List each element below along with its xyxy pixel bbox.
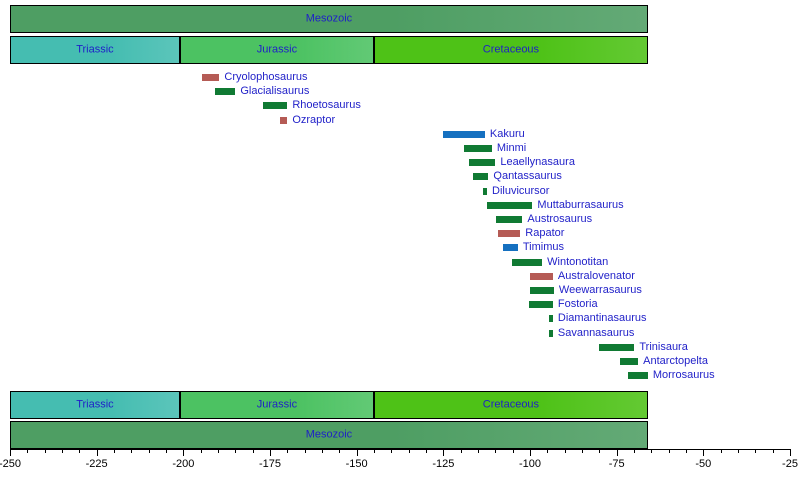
axis-tick-minor	[201, 449, 202, 453]
band-label: Mesozoic	[11, 430, 647, 441]
taxon-label: Rhoetosaurus	[292, 98, 361, 112]
band-cretaceous: Cretaceous	[374, 391, 648, 419]
taxon-label: Antarctopelta	[643, 354, 708, 368]
axis-tick-minor	[218, 449, 219, 453]
taxon-row[interactable]: Austrosaurus	[0, 212, 800, 226]
axis-tick-label: -75	[609, 458, 625, 470]
taxon-label: Ozraptor	[292, 113, 335, 127]
taxon-range-bar[interactable]	[280, 117, 287, 124]
axis-tick-minor	[131, 449, 132, 453]
axis-tick-label: -225	[86, 458, 108, 470]
taxon-range-bar[interactable]	[530, 273, 553, 280]
taxon-range-bar[interactable]	[549, 330, 553, 337]
axis-tick-label: -100	[519, 458, 541, 470]
taxon-range-bar[interactable]	[512, 259, 542, 266]
axis-tick-minor	[565, 449, 566, 453]
band-label: Triassic	[11, 45, 179, 56]
taxon-range-bar[interactable]	[599, 344, 634, 351]
band-jurassic: Jurassic	[180, 391, 374, 419]
taxon-row[interactable]: Australovenator	[0, 269, 800, 283]
taxon-label: Minmi	[497, 141, 526, 155]
taxon-row[interactable]: Morrosaurus	[0, 368, 800, 382]
taxon-label: Austrosaurus	[527, 212, 592, 226]
taxon-range-bar[interactable]	[263, 102, 287, 109]
taxon-row[interactable]: Rapator	[0, 226, 800, 240]
taxon-row[interactable]: Cryolophosaurus	[0, 70, 800, 84]
taxon-label: Fostoria	[558, 297, 598, 311]
axis-tick-minor	[513, 449, 514, 453]
axis-tick-minor	[322, 449, 323, 453]
taxon-label: Muttaburrasaurus	[537, 198, 623, 212]
axis-tick-major	[357, 449, 358, 456]
band-triassic: Triassic	[10, 36, 180, 64]
band-mesozoic: Mesozoic	[10, 5, 648, 33]
axis-tick-major	[703, 449, 704, 456]
axis-tick-label: -125	[432, 458, 454, 470]
axis-tick-major	[97, 449, 98, 456]
axis-tick-minor	[599, 449, 600, 453]
taxon-range-bar[interactable]	[202, 74, 219, 81]
taxon-label: Cryolophosaurus	[224, 70, 307, 84]
taxon-row[interactable]: Wintonotitan	[0, 255, 800, 269]
axis-tick-label: -50	[695, 458, 711, 470]
axis-tick-minor	[547, 449, 548, 453]
taxon-range-bar[interactable]	[498, 230, 520, 237]
axis-tick-minor	[669, 449, 670, 453]
axis-tick-minor	[721, 449, 722, 453]
taxon-row[interactable]: Kakuru	[0, 127, 800, 141]
axis-tick-minor	[45, 449, 46, 453]
taxon-range-bar[interactable]	[530, 287, 554, 294]
axis-tick-minor	[149, 449, 150, 453]
axis-tick-minor	[391, 449, 392, 453]
axis-tick-minor	[738, 449, 739, 453]
axis-tick-minor	[686, 449, 687, 453]
taxon-row[interactable]: Diluvicursor	[0, 184, 800, 198]
taxon-label: Qantassaurus	[493, 169, 561, 183]
band-label: Cretaceous	[375, 45, 647, 56]
taxon-range-bar[interactable]	[529, 301, 553, 308]
axis-tick-minor	[773, 449, 774, 453]
taxon-range-bar[interactable]	[443, 131, 485, 138]
taxon-row[interactable]: Savannasaurus	[0, 326, 800, 340]
taxon-label: Morrosaurus	[653, 368, 715, 382]
taxon-label: Savannasaurus	[558, 326, 634, 340]
axis-tick-minor	[495, 449, 496, 453]
taxon-range-bar[interactable]	[469, 159, 495, 166]
axis-tick-minor	[374, 449, 375, 453]
axis-tick-major	[617, 449, 618, 456]
axis-tick-minor	[409, 449, 410, 453]
axis-tick-minor	[79, 449, 80, 453]
taxon-row[interactable]: Minmi	[0, 141, 800, 155]
taxon-row[interactable]: Qantassaurus	[0, 169, 800, 183]
taxon-range-bar[interactable]	[483, 188, 487, 195]
timeline-chart: Mesozoic TriassicJurassicCretaceous Cryo…	[0, 0, 800, 495]
axis-tick-minor	[755, 449, 756, 453]
axis-tick-minor	[339, 449, 340, 453]
taxon-label: Weewarrasaurus	[559, 283, 642, 297]
taxon-range-bar[interactable]	[628, 372, 648, 379]
axis-tick-minor	[287, 449, 288, 453]
taxon-row[interactable]: Timimus	[0, 240, 800, 254]
axis-tick-label: -150	[346, 458, 368, 470]
axis-tick-major	[790, 449, 791, 456]
axis-tick-label: -25	[782, 458, 798, 470]
axis-line	[10, 449, 790, 450]
axis-tick-minor	[582, 449, 583, 453]
band-label: Triassic	[11, 400, 179, 411]
axis-tick-label: -175	[259, 458, 281, 470]
taxon-row[interactable]: Diamantinasaurus	[0, 311, 800, 325]
taxon-row[interactable]: Trinisaura	[0, 340, 800, 354]
band-jurassic: Jurassic	[180, 36, 374, 64]
taxon-row[interactable]: Weewarrasaurus	[0, 283, 800, 297]
axis-tick-major	[10, 449, 11, 456]
axis-tick-minor	[62, 449, 63, 453]
axis-tick-major	[443, 449, 444, 456]
taxon-row[interactable]: Leaellynasaura	[0, 155, 800, 169]
taxon-label: Diluvicursor	[492, 184, 549, 198]
axis-tick-major	[530, 449, 531, 456]
taxon-label: Glacialisaurus	[240, 84, 309, 98]
taxon-label: Leaellynasaura	[500, 155, 575, 169]
axis-tick-minor	[426, 449, 427, 453]
axis-tick-minor	[235, 449, 236, 453]
taxon-label: Australovenator	[558, 269, 635, 283]
axis-tick-label: -250	[0, 458, 21, 470]
taxon-row[interactable]: Rhoetosaurus	[0, 98, 800, 112]
axis-tick-minor	[651, 449, 652, 453]
band-mesozoic: Mesozoic	[10, 421, 648, 449]
taxon-label: Kakuru	[490, 127, 525, 141]
taxon-range-bar[interactable]	[549, 315, 553, 322]
taxon-row[interactable]: Ozraptor	[0, 113, 800, 127]
taxon-row[interactable]: Fostoria	[0, 297, 800, 311]
taxon-range-bar[interactable]	[496, 216, 522, 223]
taxon-range-bar[interactable]	[473, 173, 489, 180]
taxon-label: Timimus	[523, 240, 564, 254]
axis-tick-minor	[461, 449, 462, 453]
axis-tick-minor	[27, 449, 28, 453]
taxon-row[interactable]: Antarctopelta	[0, 354, 800, 368]
taxon-label: Wintonotitan	[547, 255, 608, 269]
band-triassic: Triassic	[10, 391, 180, 419]
axis-tick-label: -200	[172, 458, 194, 470]
axis-tick-minor	[114, 449, 115, 453]
taxon-label: Trinisaura	[639, 340, 688, 354]
band-cretaceous: Cretaceous	[374, 36, 648, 64]
axis-tick-minor	[305, 449, 306, 453]
taxon-range-bar[interactable]	[503, 244, 518, 251]
taxon-range-bar[interactable]	[487, 202, 532, 209]
taxon-label: Diamantinasaurus	[558, 311, 647, 325]
axis-tick-major	[270, 449, 271, 456]
axis-tick-minor	[634, 449, 635, 453]
taxon-range-bar[interactable]	[620, 358, 638, 365]
taxon-label: Rapator	[525, 226, 564, 240]
taxon-row[interactable]: Glacialisaurus	[0, 84, 800, 98]
band-label: Mesozoic	[11, 14, 647, 25]
axis-tick-minor	[166, 449, 167, 453]
band-label: Cretaceous	[375, 400, 647, 411]
taxon-range-bar[interactable]	[464, 145, 492, 152]
axis-tick-minor	[478, 449, 479, 453]
band-label: Jurassic	[181, 400, 373, 411]
taxon-range-bar[interactable]	[215, 88, 236, 95]
axis-tick-major	[183, 449, 184, 456]
band-label: Jurassic	[181, 45, 373, 56]
axis-tick-minor	[253, 449, 254, 453]
taxon-row[interactable]: Muttaburrasaurus	[0, 198, 800, 212]
